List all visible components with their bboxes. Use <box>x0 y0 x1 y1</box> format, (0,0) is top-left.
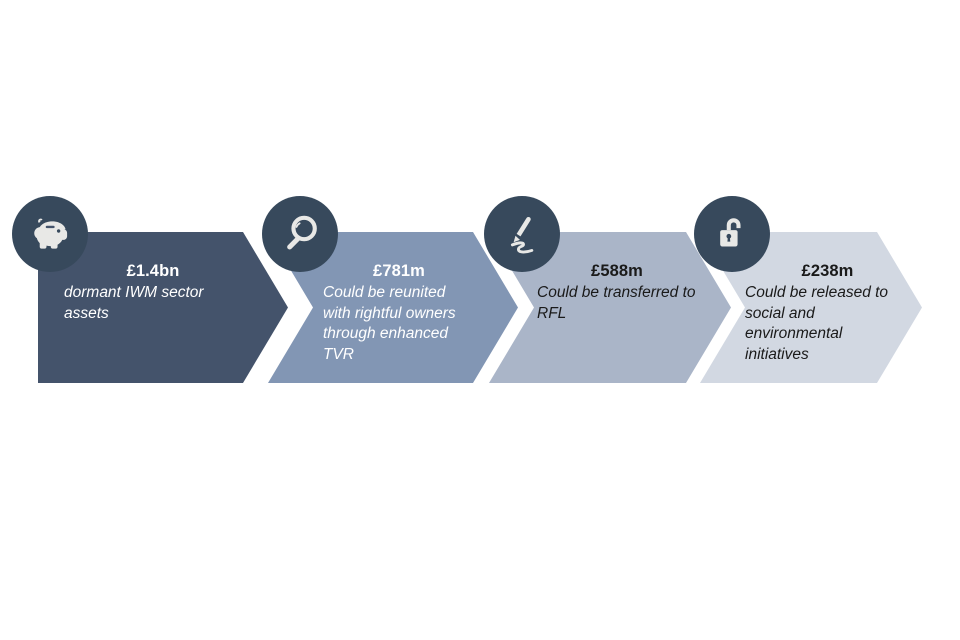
magnifying-glass-icon <box>278 212 322 256</box>
flow-step-3-description: Could be transferred to RFL <box>537 283 697 324</box>
flow-step-4-description: Could be released to social and environm… <box>745 283 910 365</box>
flow-step-4-text: £238m Could be released to social and en… <box>745 232 910 383</box>
piggy-bank-icon <box>27 211 73 257</box>
flow-step-4-icon-badge <box>694 196 770 272</box>
flow-step-1-description: dormant IWM sector assets <box>64 283 242 324</box>
flow-step-2-text: £781m Could be reunited with rightful ow… <box>323 232 475 383</box>
flow-step-4-amount: £238m <box>745 261 910 281</box>
flow-step-1-icon-badge <box>12 196 88 272</box>
flow-step-2-description: Could be reunited with rightful owners t… <box>323 283 475 365</box>
flow-step-2-icon-badge <box>262 196 338 272</box>
flow-step-1-text: £1.4bn dormant IWM sector assets <box>64 232 242 383</box>
flow-step-2-amount: £781m <box>323 261 475 281</box>
open-padlock-icon <box>711 213 753 255</box>
flow-step-1-amount: £1.4bn <box>64 261 242 281</box>
pen-signature-icon <box>500 212 544 256</box>
flow-step-3-amount: £588m <box>537 261 697 281</box>
flow-step-3-text: £588m Could be transferred to RFL <box>537 232 697 383</box>
flow-step-3-icon-badge <box>484 196 560 272</box>
chevron-flow-diagram: £1.4bn dormant IWM sector assets £781m C… <box>0 0 960 640</box>
